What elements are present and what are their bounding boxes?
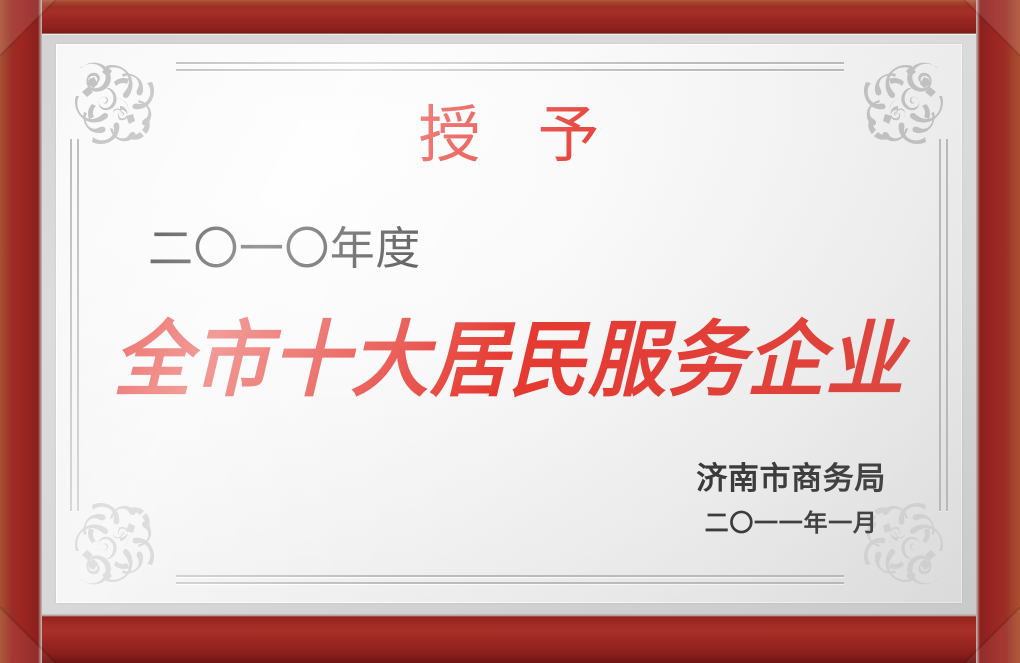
frame-rail-left bbox=[0, 0, 42, 663]
frame-rail-bottom bbox=[0, 615, 1020, 663]
issue-date: 二〇一一年一月 bbox=[696, 505, 886, 541]
award-title: 全市十大居民服务企业 bbox=[56, 320, 962, 403]
frame-rail-top bbox=[0, 0, 1020, 34]
certificate-content: 授 予 二〇一〇年度 全市十大居民服务企业 济南市商务局 二〇一一年一月 bbox=[56, 44, 962, 603]
certificate-card: 授 予 二〇一〇年度 全市十大居民服务企业 济南市商务局 二〇一一年一月 bbox=[56, 44, 962, 603]
frame-rail-right bbox=[976, 0, 1020, 663]
award-year-label: 二〇一〇年度 bbox=[148, 226, 421, 271]
award-plaque: 授 予 二〇一〇年度 全市十大居民服务企业 济南市商务局 二〇一一年一月 bbox=[0, 0, 1020, 663]
issuing-organization: 济南市商务局 bbox=[696, 461, 886, 499]
signature-block: 济南市商务局 二〇一一年一月 bbox=[696, 461, 886, 541]
award-verb-heading: 授 予 bbox=[56, 104, 962, 166]
